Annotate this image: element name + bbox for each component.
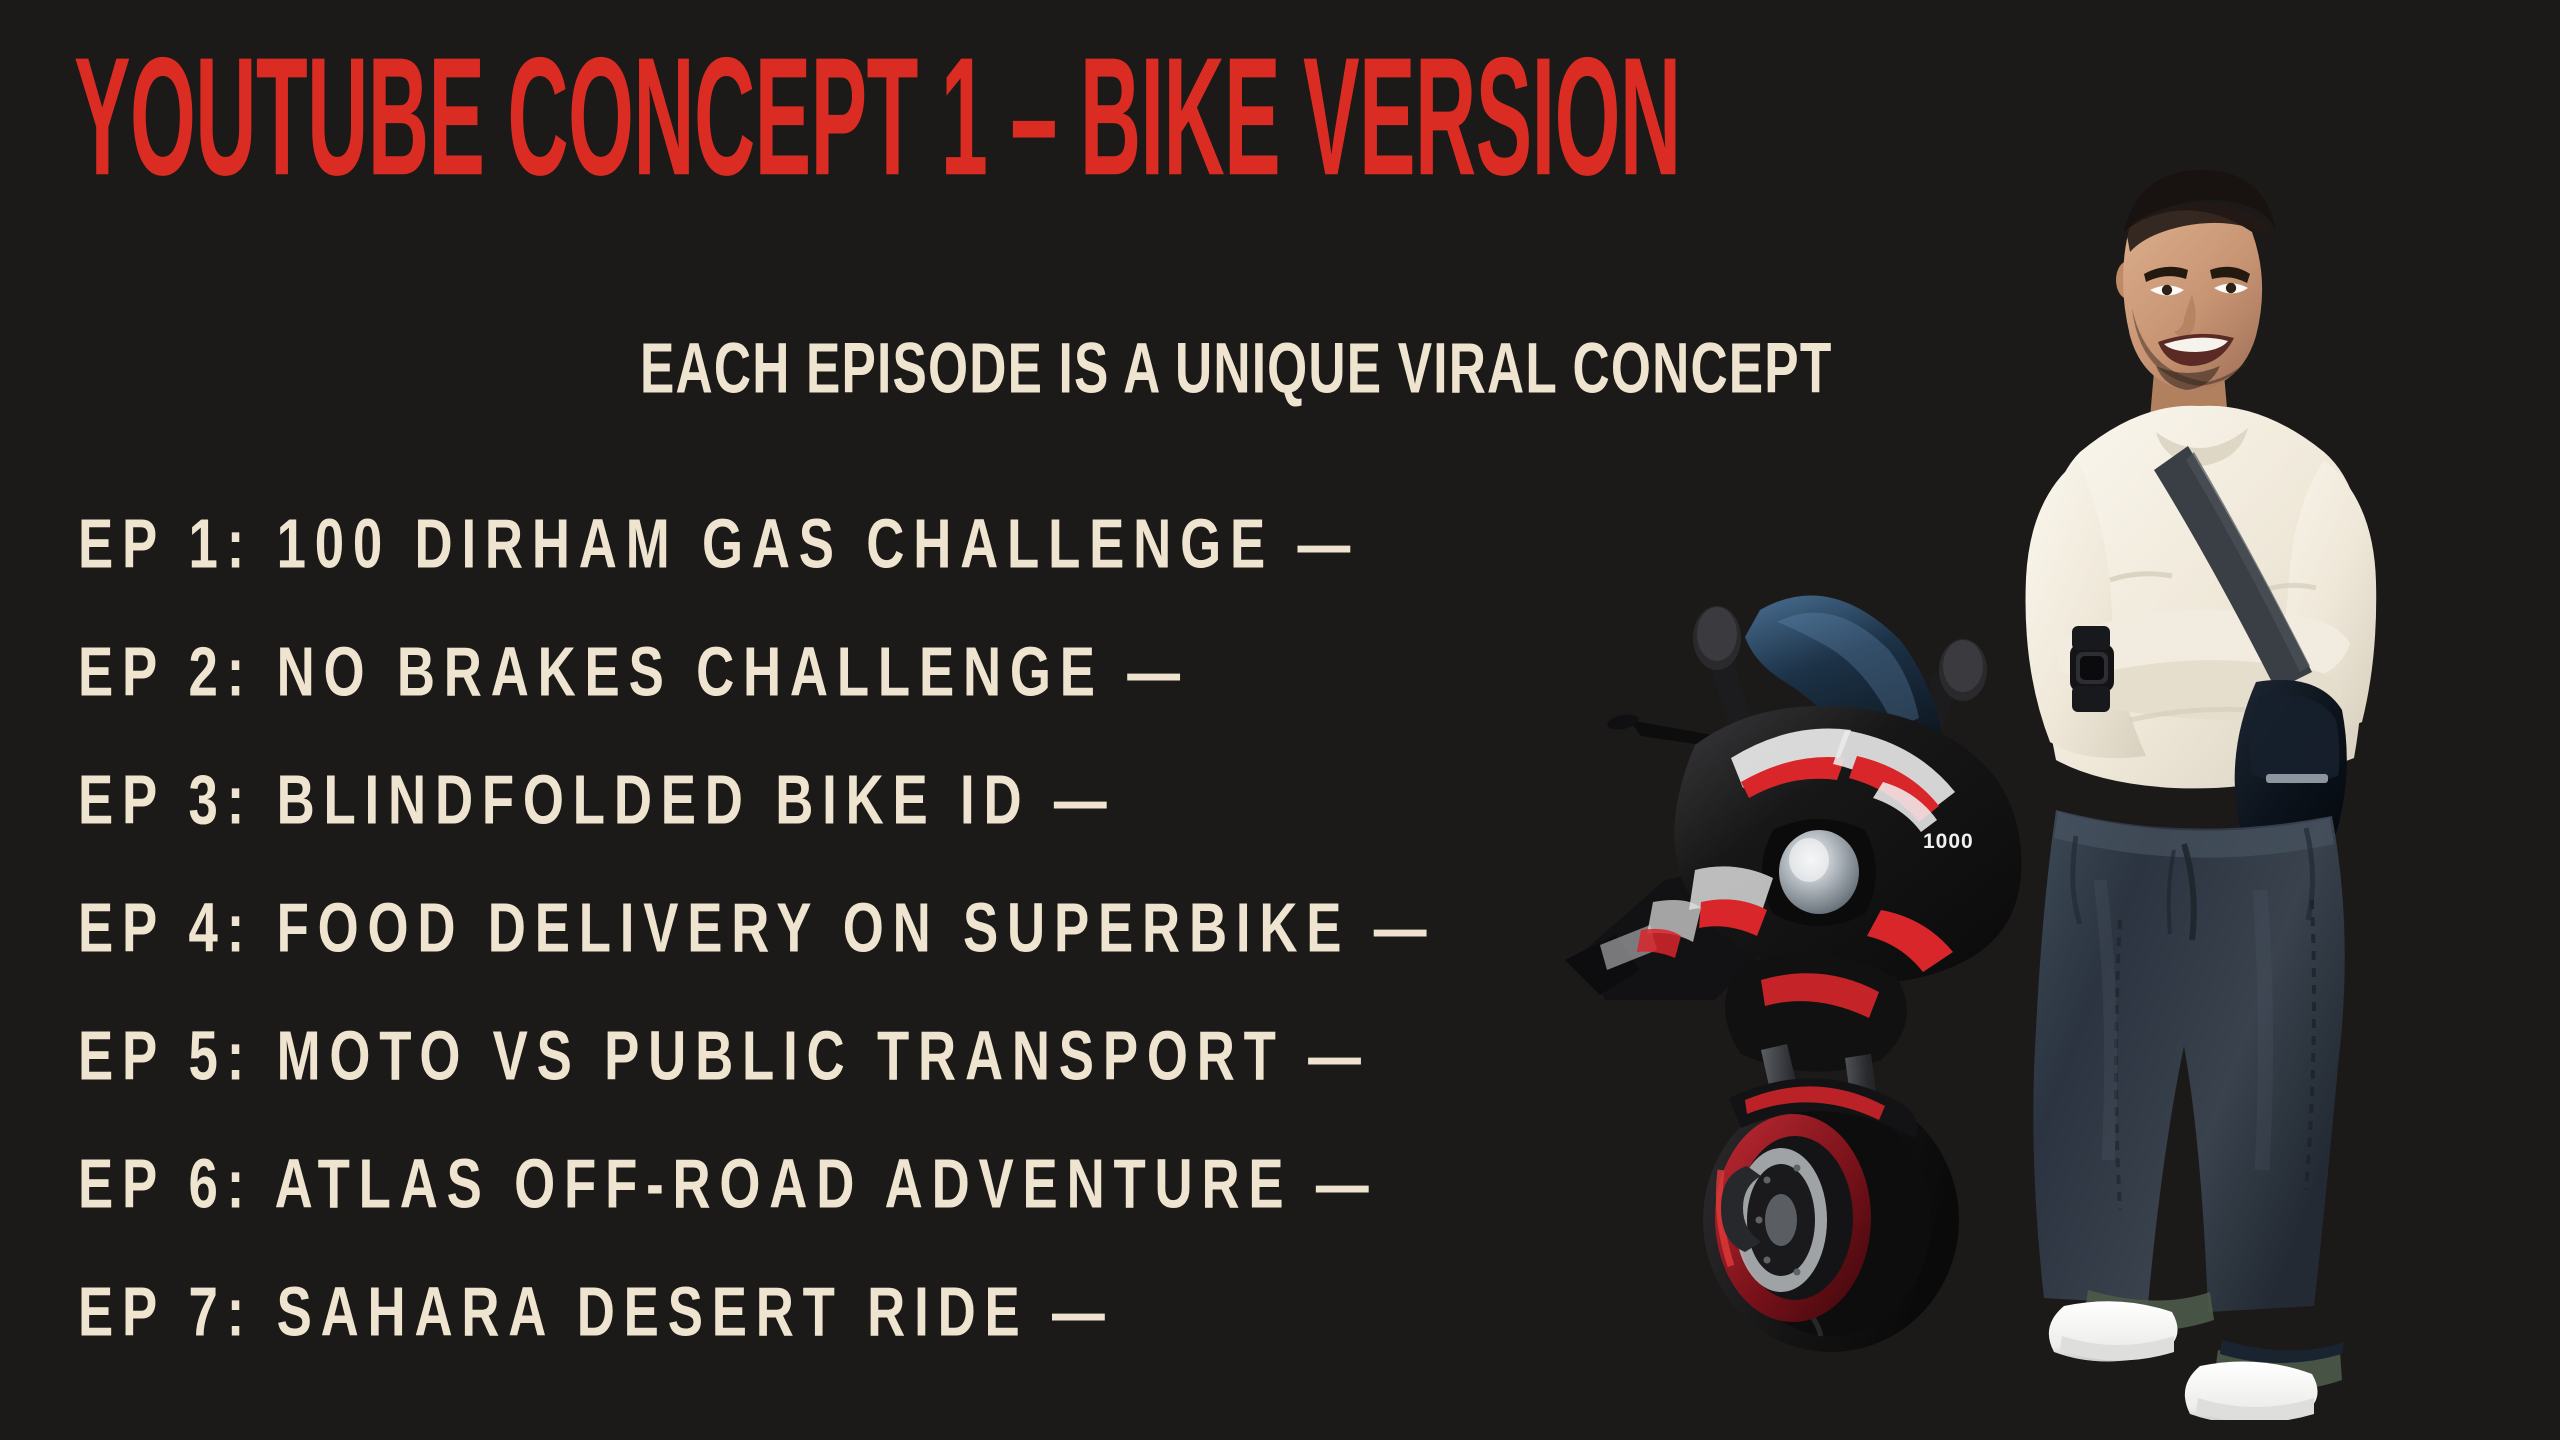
episode-label: EP 5: MOTO VS PUBLIC TRANSPORT — (78, 1020, 1370, 1090)
bag-strap (2154, 446, 2312, 690)
episode-label: EP 1: 100 DIRHAM GAS CHALLENGE — (78, 508, 1359, 578)
episode-list: EP 1: 100 DIRHAM GAS CHALLENGE — EP 2: N… (78, 508, 1578, 1404)
subtitle: EACH EPISODE IS A UNIQUE VIRAL CONCEPT (640, 332, 1832, 403)
list-item: EP 3: BLINDFOLDED BIKE ID — (78, 764, 1578, 892)
bike-badge: 1000 (1923, 830, 1974, 853)
episode-label: EP 7: SAHARA DESERT RIDE — (78, 1276, 1114, 1346)
sweater (2042, 406, 2366, 789)
motorcycle-image: 1000 (1545, 530, 2065, 1360)
hair (2124, 170, 2276, 232)
list-item: EP 5: MOTO VS PUBLIC TRANSPORT — (78, 1020, 1578, 1148)
jeans (2033, 810, 2344, 1312)
face (2123, 210, 2262, 392)
episode-label: EP 2: NO BRAKES CHALLENGE — (78, 636, 1189, 706)
presenter-image (1960, 160, 2440, 1420)
slide-canvas: YOUTUBE CONCEPT 1 – BIKE VERSION EACH EP… (0, 0, 2560, 1440)
list-item: EP 2: NO BRAKES CHALLENGE — (78, 636, 1578, 764)
sneaker-left (2049, 1301, 2178, 1361)
list-item: EP 4: FOOD DELIVERY ON SUPERBIKE — (78, 892, 1578, 1020)
list-item: EP 7: SAHARA DESERT RIDE — (78, 1276, 1578, 1404)
bag-clasp (2266, 774, 2328, 783)
wristwatch (2070, 644, 2114, 692)
list-item: EP 6: ATLAS OFF-ROAD ADVENTURE — (78, 1148, 1578, 1276)
episode-label: EP 3: BLINDFOLDED BIKE ID — (78, 764, 1116, 834)
episode-label: EP 6: ATLAS OFF-ROAD ADVENTURE — (78, 1148, 1378, 1218)
page-title: YOUTUBE CONCEPT 1 – BIKE VERSION (74, 32, 1035, 200)
list-item: EP 1: 100 DIRHAM GAS CHALLENGE — (78, 508, 1578, 636)
sneaker-right (2185, 1362, 2318, 1421)
episode-label: EP 4: FOOD DELIVERY ON SUPERBIKE — (78, 892, 1435, 962)
crossbody-bag (2235, 680, 2347, 843)
